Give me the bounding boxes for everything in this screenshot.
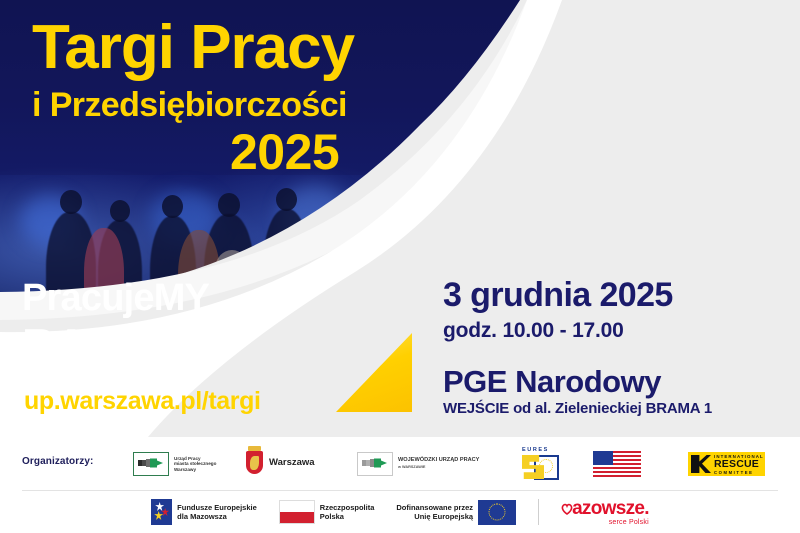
star-red bbox=[161, 508, 169, 516]
irc-icon: INTERNATIONAL RESCUE COMMITTEE bbox=[688, 452, 765, 476]
vertical-separator bbox=[538, 499, 539, 525]
irc-line3: COMMITTEE bbox=[714, 470, 764, 475]
eures-icon: EURES bbox=[518, 447, 558, 481]
logo-eures: EURES bbox=[518, 447, 558, 481]
mazowsze-wordmark: azowsze. bbox=[561, 499, 649, 518]
hero-banner: PGE NARODOWY bbox=[0, 0, 800, 437]
fundusze-europejskie-icon bbox=[151, 499, 172, 525]
warszawa-label: Warszawa bbox=[269, 457, 315, 468]
eures-dots bbox=[539, 459, 553, 473]
mazowsze-text: azowsze. bbox=[572, 498, 649, 519]
poster-root: PGE NARODOWY bbox=[0, 0, 800, 533]
logo-dofinansowane-przez-ue: Dofinansowane przez Unię Europejską bbox=[396, 500, 516, 525]
warszawa-crest-icon bbox=[246, 451, 263, 474]
urzad-pracy-text: Urząd Pracy miasta stołecznego Warszawy bbox=[174, 456, 216, 473]
irc-text: INTERNATIONAL RESCUE COMMITTEE bbox=[714, 454, 764, 475]
stadium-sign-pge: PGE bbox=[536, 84, 628, 146]
grey-green-arrow-icon bbox=[357, 452, 393, 476]
title-line-1: Targi Pracy bbox=[32, 17, 354, 79]
heart-icon bbox=[561, 500, 573, 512]
us-flag-icon bbox=[593, 451, 641, 477]
irc-k-mark bbox=[691, 455, 711, 473]
logo-us-flag bbox=[593, 451, 641, 477]
arrow-glyph bbox=[361, 457, 388, 469]
logo-urzad-pracy-warszawy: Urząd Pracy miasta stołecznego Warszawy bbox=[133, 452, 216, 476]
mazowsze-tagline: serce Polski bbox=[609, 519, 649, 526]
event-url[interactable]: up.warszawa.pl/targi bbox=[24, 389, 261, 414]
rzeczpospolita-text: Rzeczpospolita Polska bbox=[320, 503, 375, 522]
logo-warszawa: Warszawa bbox=[246, 451, 315, 474]
urzad-pracy-line2: miasta stołecznego bbox=[174, 461, 216, 467]
urzad-pracy-line3: Warszawy bbox=[174, 467, 216, 473]
eu-flag-icon bbox=[478, 500, 516, 525]
slogan-line-1: PracujeMY bbox=[22, 279, 209, 317]
event-venue: PGE Narodowy bbox=[443, 366, 661, 397]
title-line-2: i Przedsiębiorczości bbox=[32, 88, 347, 122]
fe-line2: dla Mazowsza bbox=[177, 512, 257, 522]
rp-line2: Polska bbox=[320, 512, 375, 522]
green-arrow-icon bbox=[133, 452, 169, 476]
ue-line2: Unię Europejską bbox=[396, 512, 473, 522]
slogan-line-2: RAZEM bbox=[22, 322, 183, 368]
rp-line1: Rzeczpospolita bbox=[320, 503, 375, 513]
flag-canton bbox=[593, 451, 613, 465]
event-hours: godz. 10.00 - 17.00 bbox=[443, 320, 624, 341]
fundusze-europejskie-text: Fundusze Europejskie dla Mazowsza bbox=[177, 503, 257, 522]
event-date: 3 grudnia 2025 bbox=[443, 278, 673, 312]
wup-line2: w WARSZAWIE bbox=[398, 464, 479, 471]
arrow-glyph bbox=[137, 457, 164, 469]
star-yellow bbox=[154, 511, 163, 520]
ue-line1: Dofinansowane przez bbox=[396, 503, 473, 513]
wup-line1: WOJEWÓDZKI URZĄD PRACY bbox=[398, 457, 479, 464]
eures-wordmark: EURES bbox=[522, 447, 549, 453]
crown-shape bbox=[248, 446, 261, 451]
title-year: 2025 bbox=[230, 127, 339, 177]
fe-line1: Fundusze Europejskie bbox=[177, 503, 257, 513]
mermaid-shape bbox=[250, 456, 259, 470]
logo-wojewodzki-urzad-pracy: WOJEWÓDZKI URZĄD PRACY w WARSZAWIE bbox=[357, 452, 479, 476]
dofinansowane-text: Dofinansowane przez Unię Europejską bbox=[396, 503, 473, 522]
eu-stars-ring bbox=[489, 504, 506, 521]
eu-funding-row: Fundusze Europejskie dla Mazowsza Rzeczp… bbox=[0, 491, 800, 533]
logo-international-rescue-committee: INTERNATIONAL RESCUE COMMITTEE bbox=[688, 452, 765, 476]
logo-mazowsze: azowsze. serce Polski bbox=[561, 499, 649, 526]
logo-fundusze-europejskie: Fundusze Europejskie dla Mazowsza bbox=[151, 499, 257, 525]
wup-text: WOJEWÓDZKI URZĄD PRACY w WARSZAWIE bbox=[398, 457, 479, 471]
footer: Organizatorzy: Urząd Pracy miasta stołec… bbox=[0, 437, 800, 533]
event-entrance: WEJŚCIE od al. Zielenieckiej BRAMA 1 bbox=[443, 401, 712, 416]
poland-flag-icon bbox=[279, 500, 315, 524]
irc-line2: RESCUE bbox=[714, 459, 764, 470]
star-white bbox=[155, 502, 164, 511]
heart-glyph bbox=[561, 503, 573, 515]
logo-rzeczpospolita-polska: Rzeczpospolita Polska bbox=[279, 500, 375, 524]
organizers-label: Organizatorzy: bbox=[22, 456, 93, 467]
